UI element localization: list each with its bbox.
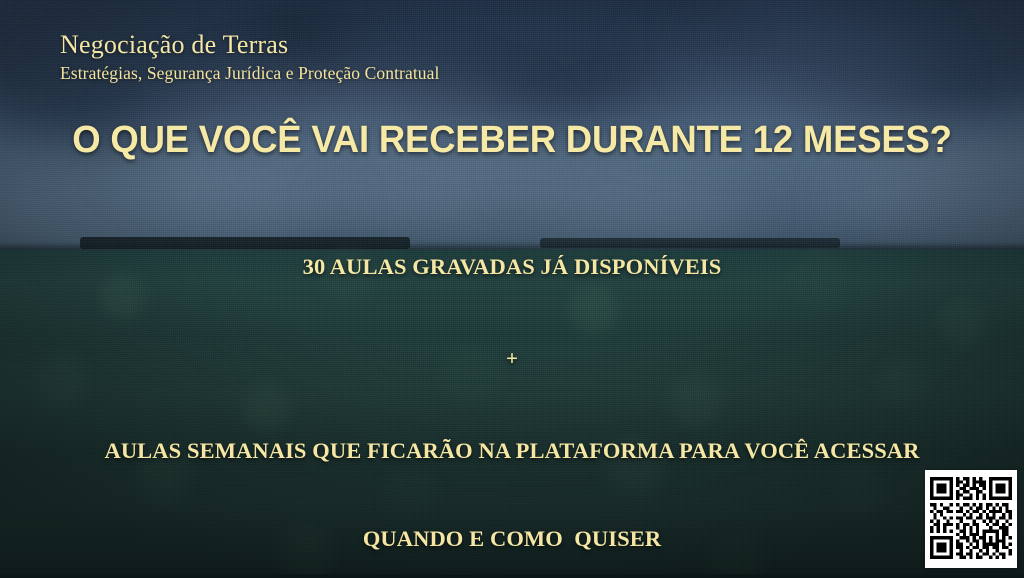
brand-block: Negociação de Terras Estratégias, Segura… — [60, 30, 439, 84]
list-item: 30 AULAS GRAVADAS JÁ DISPONÍVEIS — [0, 193, 1024, 339]
benefits-list: 30 AULAS GRAVADAS JÁ DISPONÍVEIS + AULAS… — [0, 193, 1024, 578]
qr-code[interactable] — [925, 470, 1017, 568]
qr-code-icon — [930, 475, 1012, 561]
list-item-line: 30 AULAS GRAVADAS JÁ DISPONÍVEIS — [0, 252, 1024, 281]
list-item-line: AULAS SEMANAIS QUE FICARÃO NA PLATAFORMA… — [0, 436, 1024, 465]
headline: O QUE VOCÊ VAI RECEBER DURANTE 12 MESES? — [20, 119, 1003, 162]
plus-separator: + — [0, 348, 1024, 369]
list-item: AULAS SEMANAIS QUE FICARÃO NA PLATAFORMA… — [0, 377, 1024, 578]
brand-subtitle: Estratégias, Segurança Jurídica e Proteç… — [60, 63, 439, 84]
brand-title: Negociação de Terras — [60, 30, 439, 60]
promo-slide: Negociação de Terras Estratégias, Segura… — [0, 0, 1024, 578]
list-item-line: QUANDO E COMO QUISER — [0, 524, 1024, 553]
slide-content: Negociação de Terras Estratégias, Segura… — [0, 0, 1024, 578]
